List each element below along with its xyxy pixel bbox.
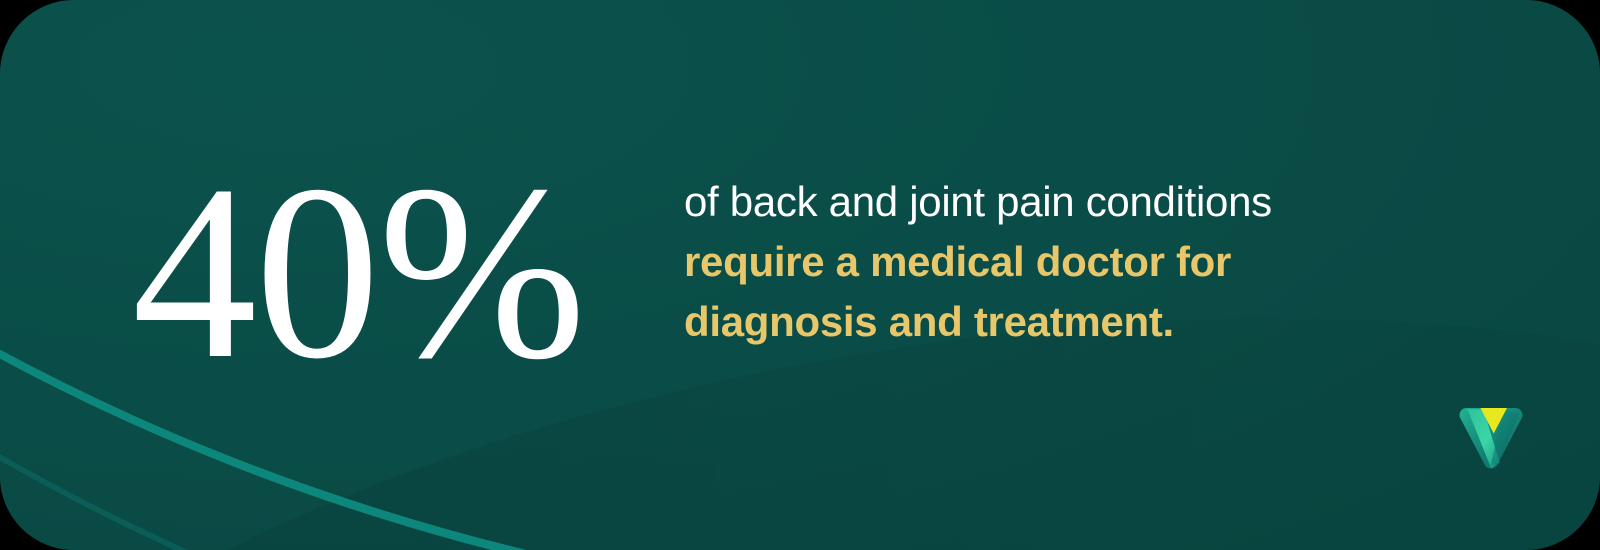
stat-value: 40% (132, 148, 584, 398)
statement-line-1: of back and joint pain conditions (684, 172, 1444, 232)
card-content: 40% of back and joint pain conditions re… (0, 0, 1600, 550)
statement-block: of back and joint pain conditions requir… (684, 172, 1444, 352)
statement-line-2: require a medical doctor for (684, 232, 1444, 292)
v-chevron-logo-icon (1458, 404, 1524, 472)
statement-line-3: diagnosis and treatment. (684, 292, 1444, 352)
stat-card: 40% of back and joint pain conditions re… (0, 0, 1600, 550)
